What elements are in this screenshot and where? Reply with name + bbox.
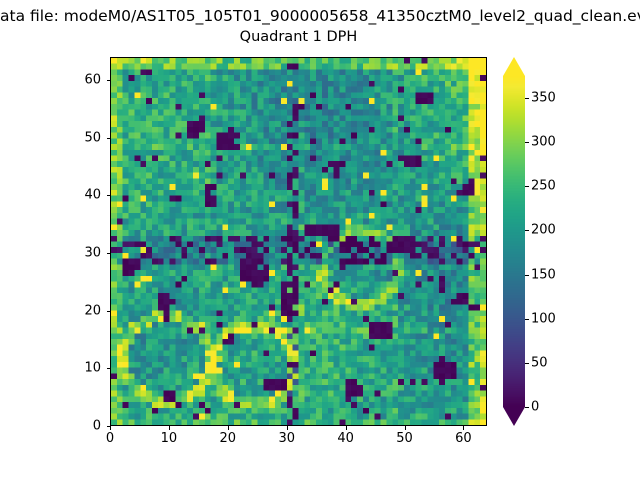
x-tick-label: 0 xyxy=(106,431,114,446)
colorbar-tick-label: 150 xyxy=(531,267,556,282)
colorbar-tick-mark xyxy=(525,275,529,276)
y-tick-label: 40 xyxy=(84,188,101,203)
x-tick-label: 30 xyxy=(278,431,295,446)
colorbar-tick-mark xyxy=(525,142,529,143)
y-tick-mark xyxy=(107,368,111,369)
colorbar-extend-min-arrow xyxy=(503,407,525,426)
y-tick-label: 60 xyxy=(84,73,101,88)
colorbar-tick-mark xyxy=(525,98,529,99)
x-tick-label: 40 xyxy=(337,431,354,446)
x-tick-mark xyxy=(463,426,464,430)
colorbar-tick-label: 100 xyxy=(531,311,556,326)
x-tick-mark xyxy=(169,426,170,430)
y-tick-mark xyxy=(107,138,111,139)
colorbar-tick-mark xyxy=(525,186,529,187)
y-tick-mark xyxy=(107,80,111,81)
colorbar-tick-mark xyxy=(525,407,529,408)
colorbar-tick-mark xyxy=(525,230,529,231)
x-tick-mark xyxy=(228,426,229,430)
y-tick-label: 10 xyxy=(84,361,101,376)
y-tick-label: 50 xyxy=(84,130,101,145)
y-tick-mark xyxy=(107,311,111,312)
colorbar-gradient xyxy=(503,76,525,407)
y-tick-label: 30 xyxy=(84,246,101,261)
y-tick-mark xyxy=(107,426,111,427)
x-tick-label: 60 xyxy=(455,431,472,446)
y-tick-label: 0 xyxy=(93,419,101,434)
colorbar-tick-label: 200 xyxy=(531,223,556,238)
x-tick-mark xyxy=(405,426,406,430)
heatmap-axes xyxy=(110,57,487,426)
x-tick-mark xyxy=(110,426,111,430)
x-tick-label: 20 xyxy=(220,431,237,446)
colorbar-tick-mark xyxy=(525,363,529,364)
colorbar-extend-max-arrow xyxy=(503,57,525,76)
figure-suptitle: Data file: modeM0/AS1T05_105T01_90000056… xyxy=(0,4,640,28)
matplotlib-figure: Data file: modeM0/AS1T05_105T01_90000056… xyxy=(0,0,640,480)
figure-suptitle-container: Data file: modeM0/AS1T05_105T01_90000056… xyxy=(0,4,640,28)
y-tick-mark xyxy=(107,253,111,254)
colorbar-tick-label: 250 xyxy=(531,179,556,194)
x-tick-label: 10 xyxy=(161,431,178,446)
axes-title: Quadrant 1 DPH xyxy=(110,29,487,45)
colorbar xyxy=(503,57,525,426)
colorbar-tick-label: 300 xyxy=(531,135,556,150)
colorbar-tick-label: 50 xyxy=(531,355,548,370)
colorbar-tick-label: 0 xyxy=(531,400,539,415)
colorbar-tick-label: 350 xyxy=(531,91,556,106)
colorbar-body xyxy=(503,76,525,407)
x-tick-mark xyxy=(287,426,288,430)
x-tick-mark xyxy=(346,426,347,430)
y-tick-mark xyxy=(107,195,111,196)
colorbar-tick-mark xyxy=(525,319,529,320)
y-tick-label: 20 xyxy=(84,303,101,318)
x-tick-label: 50 xyxy=(396,431,413,446)
heatmap-image xyxy=(111,58,486,425)
